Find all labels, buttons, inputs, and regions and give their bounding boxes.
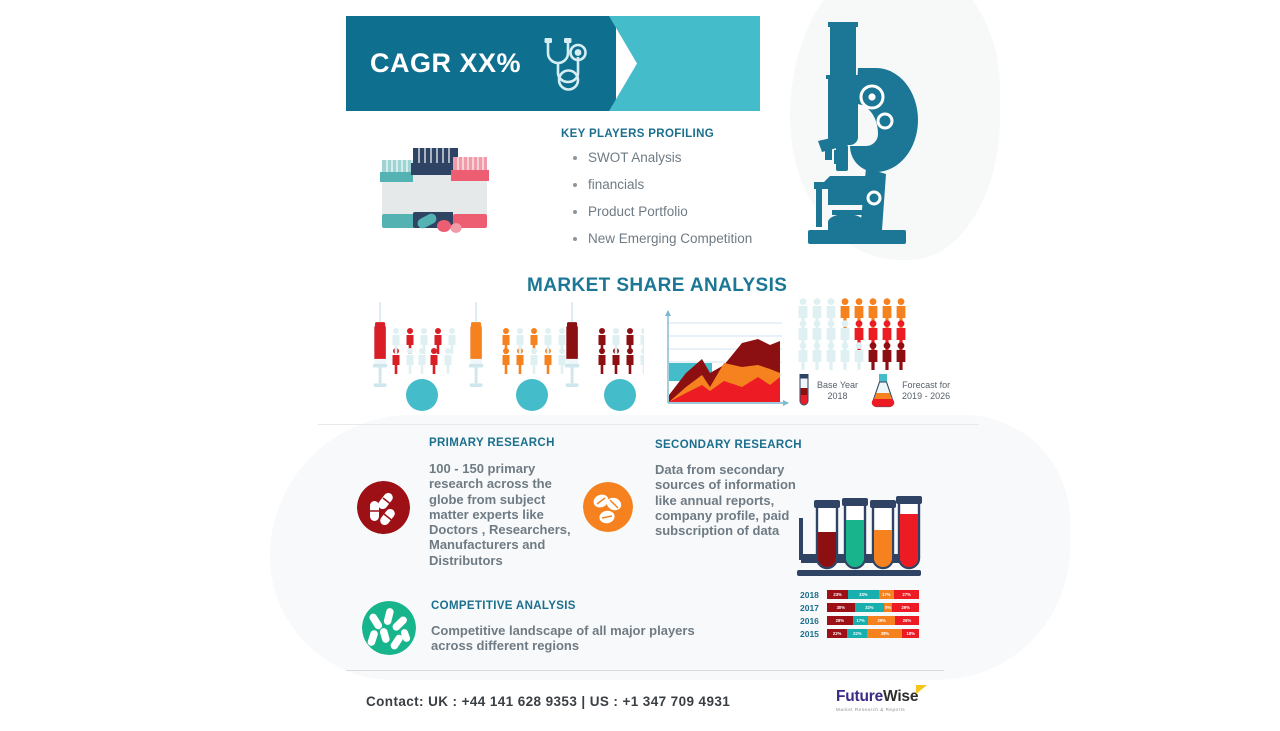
primary-research-title: PRIMARY RESEARCH <box>429 437 555 449</box>
capsule-pills-icon <box>357 481 410 534</box>
yearbar-label: 2018 <box>800 590 827 600</box>
yearly-share-bars: 2018 23% 33% 17% 27% 2017 30% 32% 9% 29%… <box>800 589 919 641</box>
yearbar-segment: 32% <box>855 603 884 612</box>
legend-base-year-line2: 2018 <box>817 391 858 402</box>
logo-part-wise: Wise <box>883 688 918 705</box>
table-row: 2017 30% 32% 9% 29% <box>800 602 919 613</box>
futurewise-logo: FutureWise Market Research & Reports <box>836 688 918 712</box>
infographic-canvas: CAGR XX% <box>0 0 1280 731</box>
footer-divider <box>346 670 944 671</box>
yearbar-segment: 33% <box>848 590 878 599</box>
market-share-title: MARKET SHARE ANALYSIS <box>527 275 787 297</box>
yearbar-label: 2015 <box>800 629 827 639</box>
table-row: 2018 23% 33% 17% 27% <box>800 589 919 600</box>
banner-light-bar <box>609 16 760 111</box>
secondary-research-title: SECONDARY RESEARCH <box>655 439 802 451</box>
test-tube-icon <box>797 374 811 408</box>
yearbar-label: 2016 <box>800 616 827 626</box>
logo-wordmark: FutureWise <box>836 688 918 706</box>
market-share-area-chart <box>654 303 794 413</box>
list-item: Product Portfolio <box>563 204 752 220</box>
list-item: New Emerging Competition <box>563 231 752 247</box>
stethoscope-icon <box>539 36 603 96</box>
yearbar-segment: 26% <box>895 616 919 625</box>
secondary-research-body: Data from secondary sources of informati… <box>655 462 797 538</box>
logo-part-future: Future <box>836 688 883 705</box>
people-pictogram-chart <box>796 298 916 370</box>
section-divider <box>318 424 979 425</box>
flask-icon <box>870 374 896 408</box>
yearbar-segment: 9% <box>884 603 892 612</box>
table-row: 2016 28% 17% 29% 26% <box>800 615 919 626</box>
syringe-pictogram-group <box>362 300 644 415</box>
yearbar-track: 28% 17% 29% 26% <box>827 616 919 625</box>
logo-tagline: Market Research & Reports <box>836 707 918 712</box>
yearbar-segment: 38% <box>867 629 902 638</box>
yearbar-segment: 22% <box>827 629 847 638</box>
cagr-label: CAGR XX% <box>370 16 521 111</box>
key-players-title: KEY PLAYERS PROFILING <box>561 128 714 140</box>
tablet-pills-icon <box>583 482 633 532</box>
legend-base-year-line1: Base Year <box>817 380 858 391</box>
primary-research-body: 100 - 150 primary research across the gl… <box>429 461 587 568</box>
yearbar-segment: 23% <box>827 590 848 599</box>
test-tube-rack-icon <box>795 492 923 580</box>
yearbar-segment: 22% <box>847 629 867 638</box>
legend-forecast: Forecast for 2019 - 2026 <box>902 380 950 402</box>
microscope-icon <box>806 18 918 253</box>
flag-icon <box>916 685 927 694</box>
legend-base-year: Base Year 2018 <box>817 380 858 402</box>
legend-forecast-line1: Forecast for <box>902 380 950 391</box>
yearbar-segment: 17% <box>879 590 895 599</box>
yearbar-label: 2017 <box>800 603 827 613</box>
capsules-cluster-icon <box>362 601 416 655</box>
competitive-analysis-title: COMPETITIVE ANALYSIS <box>431 600 576 612</box>
yearbar-segment: 29% <box>868 616 895 625</box>
contact-info: Contact: UK : +44 141 628 9353 | US : +1… <box>366 694 730 709</box>
yearbar-segment: 27% <box>894 590 919 599</box>
list-item: financials <box>563 177 752 193</box>
yearbar-track: 30% 32% 9% 29% <box>827 603 919 612</box>
legend-forecast-line2: 2019 - 2026 <box>902 391 950 402</box>
cagr-banner: CAGR XX% <box>346 16 760 111</box>
key-players-list: SWOT Analysis financials Product Portfol… <box>563 150 752 258</box>
yearbar-segment: 17% <box>853 616 869 625</box>
yearbar-segment: 30% <box>827 603 855 612</box>
yearbar-segment: 29% <box>892 603 919 612</box>
yearbar-segment: 18% <box>902 629 919 638</box>
chart-legend: Base Year 2018 Forecast for 2019 - 2026 <box>797 374 950 408</box>
pill-bottles-icon <box>370 140 492 245</box>
yearbar-track: 23% 33% 17% 27% <box>827 590 919 599</box>
competitive-analysis-body: Competitive landscape of all major playe… <box>431 623 706 654</box>
list-item: SWOT Analysis <box>563 150 752 166</box>
yearbar-segment: 28% <box>827 616 853 625</box>
table-row: 2015 22% 22% 38% 18% <box>800 628 919 639</box>
yearbar-track: 22% 22% 38% 18% <box>827 629 919 638</box>
